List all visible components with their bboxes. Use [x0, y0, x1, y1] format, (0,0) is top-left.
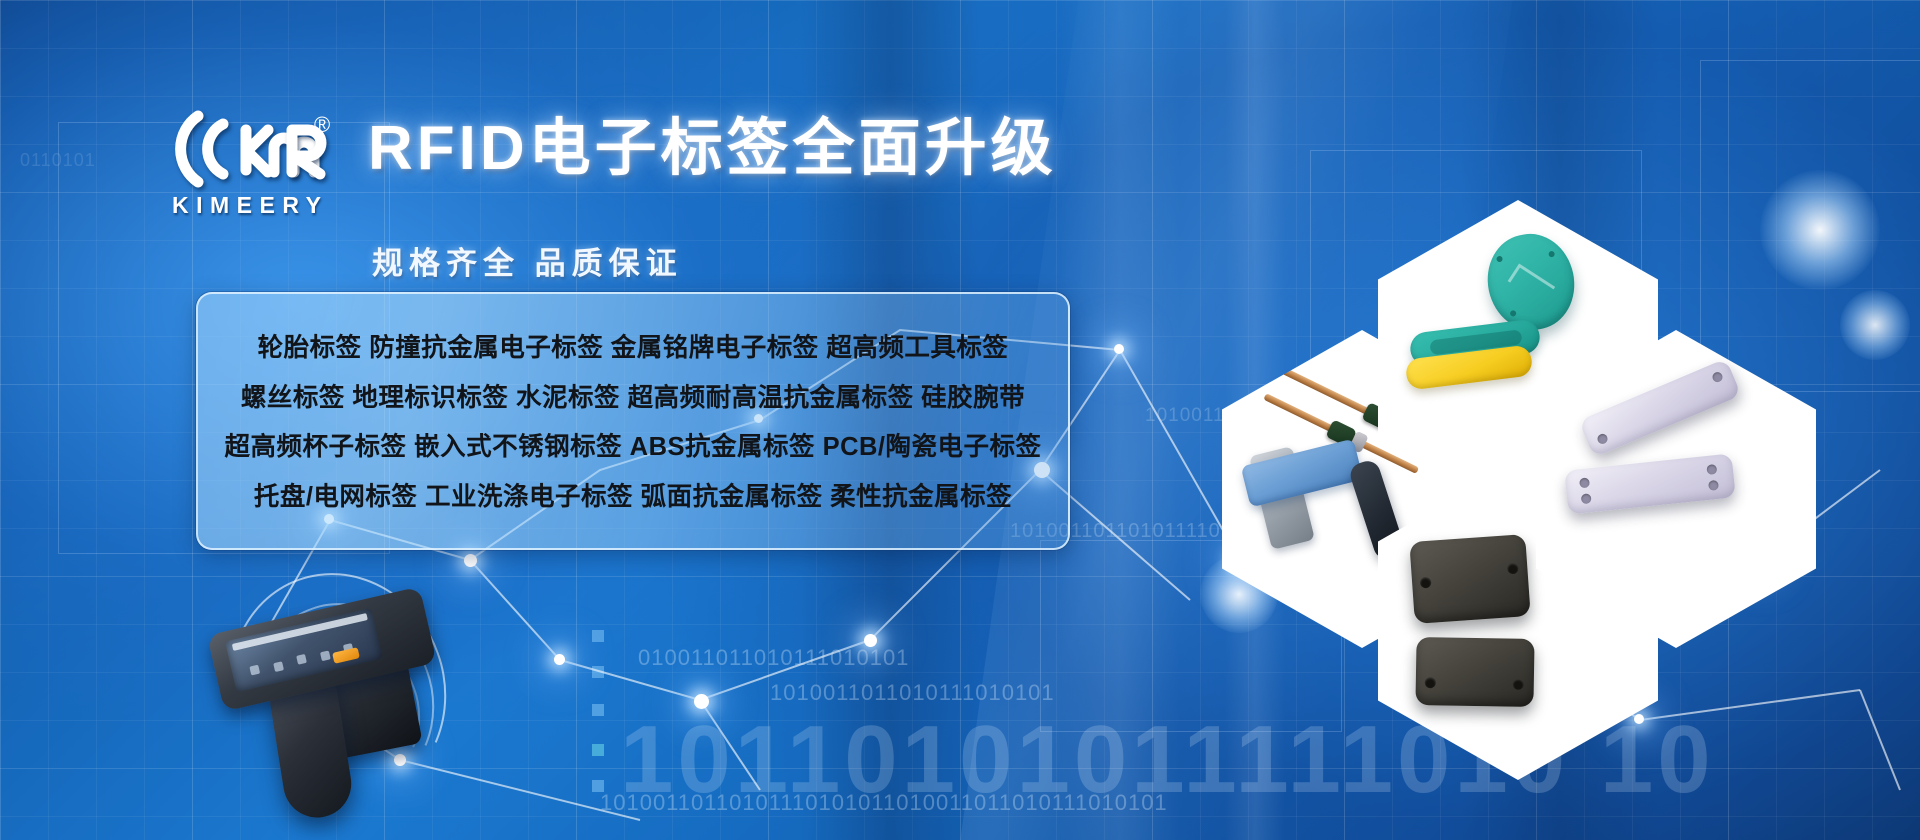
dark-rugged-block-small [1415, 637, 1534, 707]
handheld-rfid-reader [195, 600, 465, 840]
product-list-panel: 轮胎标签 防撞抗金属电子标签 金属铭牌电子标签 超高频工具标签 螺丝标签 地理标… [196, 292, 1070, 550]
registered-trademark-icon: ® [314, 114, 330, 136]
product-list-row: 超高频杯子标签 嵌入式不锈钢标签 ABS抗金属标签 PCB/陶瓷电子标签 [198, 423, 1068, 473]
dark-rugged-block-large [1409, 534, 1530, 624]
round-teal-anti-metal-tag [1479, 226, 1583, 338]
binary-text-line-7: 0110101 [20, 150, 96, 171]
headline-title: RFID电子标签全面升级 [368, 118, 1057, 180]
white-long-tag-upper [1579, 358, 1742, 457]
product-list-row: 轮胎标签 防撞抗金属电子标签 金属铭牌电子标签 超高频工具标签 [198, 324, 1068, 374]
binary-text-line-1: 010011011010111010101 [638, 645, 909, 671]
rfid-product-banner: 010011011010111010101 101001101101011101… [0, 0, 1920, 840]
white-long-tag-lower [1564, 453, 1736, 514]
brand-wordmark: KIMEERY [172, 192, 328, 219]
brand-logo[interactable]: ® KIMEERY [168, 108, 348, 228]
product-list-row: 托盘/电网标签 工业洗涤电子标签 弧面抗金属标签 柔性抗金属标签 [198, 473, 1068, 523]
binary-text-line-2: 1010011011010111010101 [770, 680, 1055, 706]
subheadline-text: 规格齐全 品质保证 [372, 238, 683, 283]
product-list-row: 螺丝标签 地理标识标签 水泥标签 超高频耐高温抗金属标签 硅胶腕带 [198, 374, 1068, 424]
binary-text-line-4: 1010011011010111010101101001101101011101… [600, 790, 1168, 816]
